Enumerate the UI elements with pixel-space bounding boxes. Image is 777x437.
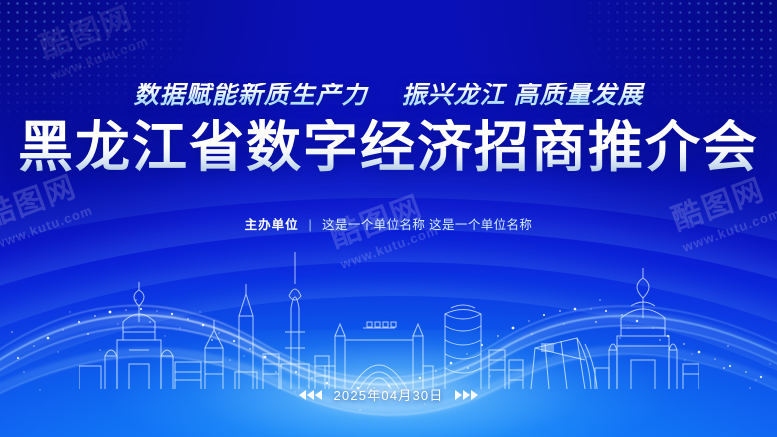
triangle-right-icon [455, 390, 478, 400]
organizer-names: 这是一个单位名称 这是一个单位名称 [322, 218, 532, 232]
tv-tower [281, 252, 309, 389]
light-arc [0, 296, 777, 437]
organizer-separator: | [309, 218, 313, 232]
modern-pavilion [531, 338, 597, 389]
poster-content: 数据赋能新质生产力 振兴龙江 高质量发展 黑龙江省数字经济招商推介会 主办单位 … [0, 0, 777, 233]
right-blocks [489, 350, 523, 389]
right-cathedral [609, 268, 677, 389]
mid-blocks [263, 354, 329, 389]
page-title: 黑龙江省数字经济招商推介会 [0, 119, 777, 177]
cylinder-tower [445, 305, 481, 389]
left-cathedral [105, 282, 173, 389]
horizon-glow [29, 330, 749, 437]
subtitle-left-text: 数据赋能新质生产力 [134, 81, 368, 109]
monument-tower [235, 284, 257, 389]
poster-subtitle: 数据赋能新质生产力 振兴龙江 高质量发展 [0, 83, 777, 108]
event-poster: 数据赋能新质生产力 振兴龙江 高质量发展 黑龙江省数字经济招商推介会 主办单位 … [0, 0, 777, 437]
city-skyline-icon [79, 244, 699, 389]
light-arc [0, 262, 777, 437]
subtitle-right-text: 振兴龙江 高质量发展 [401, 81, 643, 109]
event-date-row: 2025年04月30日 [0, 385, 777, 404]
light-arc [0, 230, 777, 437]
triangle-left-icon [299, 390, 322, 400]
bottom-sheen [0, 267, 777, 437]
small-spire-tower [205, 320, 223, 389]
arch-gate [325, 322, 433, 389]
organizer-label: 主办单位 [245, 218, 299, 232]
organizer-line: 主办单位 | 这是一个单位名称 这是一个单位名称 [0, 214, 777, 233]
event-date: 2025年04月30日 [333, 385, 443, 404]
